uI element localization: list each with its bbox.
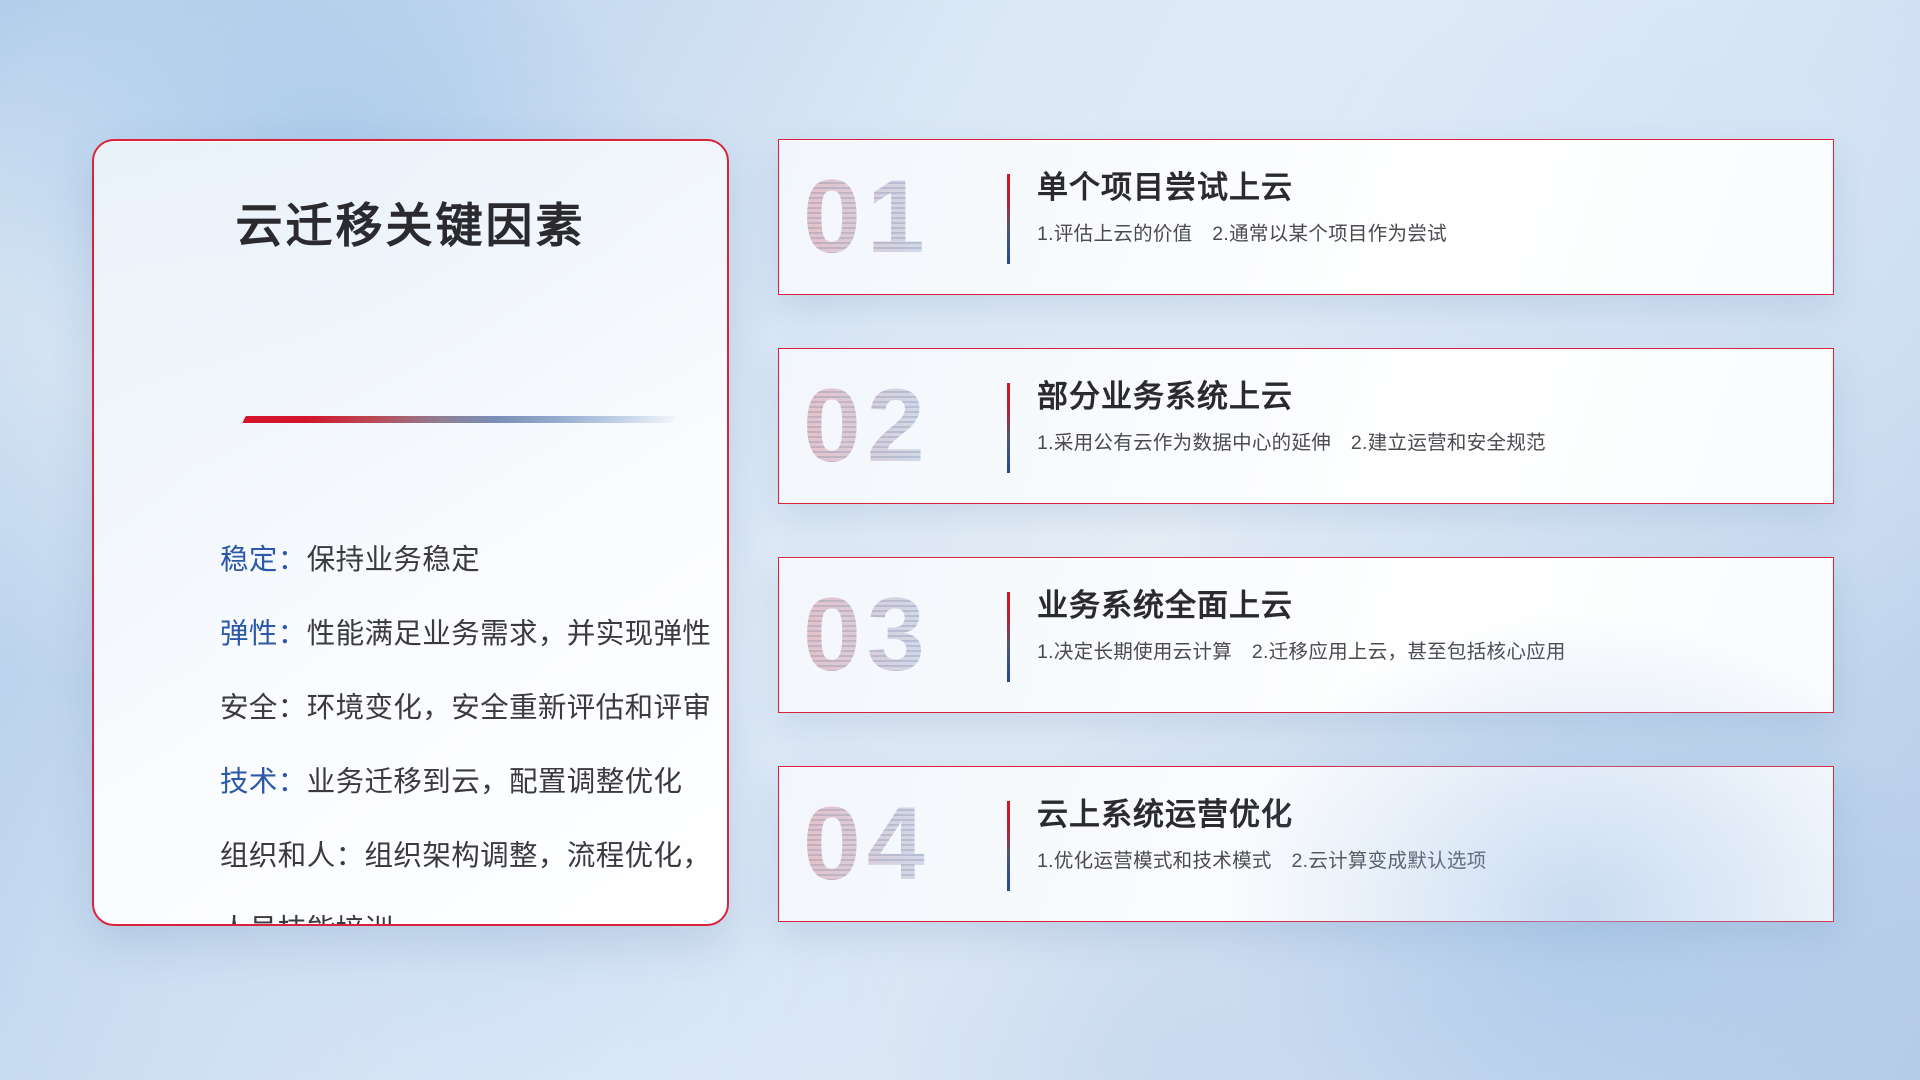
stage-subtitle: 1.优化运营模式和技术模式 2.云计算变成默认选项 bbox=[1037, 846, 1809, 876]
stage-card-body: 部分业务系统上云 1.采用公有云作为数据中心的延伸 2.建立运营和安全规范 bbox=[1037, 375, 1809, 458]
factor-label: 技术： bbox=[220, 766, 307, 798]
factor-label: 组织和人： bbox=[220, 840, 365, 872]
stage-title: 云上系统运营优化 bbox=[1037, 793, 1809, 837]
stage-subtitle: 1.评估上云的价值 2.通常以某个项目作为尝试 bbox=[1037, 219, 1809, 249]
factor-text: 组织架构调整，流程优化， bbox=[365, 840, 712, 872]
page-title: 云迁移关键因素 bbox=[94, 187, 727, 256]
factor-text: 保持业务稳定 bbox=[307, 544, 480, 576]
stage-divider-bar bbox=[1007, 801, 1010, 891]
title-underline-gradient bbox=[242, 416, 675, 423]
stage-card-04[interactable]: 04 云上系统运营优化 1.优化运营模式和技术模式 2.云计算变成默认选项 bbox=[778, 766, 1834, 922]
stage-number: 04 bbox=[803, 792, 931, 896]
stage-divider-bar bbox=[1007, 592, 1010, 682]
stage-card-list: 01 单个项目尝试上云 1.评估上云的价值 2.通常以某个项目作为尝试 02 部… bbox=[778, 139, 1834, 922]
list-item: 稳定：保持业务稳定 bbox=[220, 523, 695, 597]
stage-divider-bar bbox=[1007, 174, 1010, 264]
factor-text: 人员技能培训 bbox=[220, 914, 393, 926]
stage-card-03[interactable]: 03 业务系统全面上云 1.决定长期使用云计算 2.迁移应用上云，甚至包括核心应… bbox=[778, 557, 1834, 713]
list-item: 技术：业务迁移到云，配置调整优化 bbox=[220, 745, 695, 819]
factor-text: 环境变化，安全重新评估和评审 bbox=[307, 692, 712, 724]
stage-card-body: 单个项目尝试上云 1.评估上云的价值 2.通常以某个项目作为尝试 bbox=[1037, 166, 1809, 249]
stage-card-02[interactable]: 02 部分业务系统上云 1.采用公有云作为数据中心的延伸 2.建立运营和安全规范 bbox=[778, 348, 1834, 504]
slide-canvas: 云迁移关键因素 稳定：保持业务稳定 弹性：性能满足业务需求，并实现弹性 安全：环… bbox=[0, 0, 1920, 1080]
factor-label: 安全： bbox=[220, 692, 307, 724]
list-item: 人员技能培训 bbox=[220, 893, 695, 926]
stage-title: 单个项目尝试上云 bbox=[1037, 166, 1809, 210]
stage-card-01[interactable]: 01 单个项目尝试上云 1.评估上云的价值 2.通常以某个项目作为尝试 bbox=[778, 139, 1834, 295]
stage-divider-bar bbox=[1007, 383, 1010, 473]
stage-subtitle: 1.决定长期使用云计算 2.迁移应用上云，甚至包括核心应用 bbox=[1037, 637, 1809, 667]
stage-number: 02 bbox=[803, 374, 931, 478]
factor-list: 稳定：保持业务稳定 弹性：性能满足业务需求，并实现弹性 安全：环境变化，安全重新… bbox=[220, 523, 695, 926]
factor-label: 弹性： bbox=[220, 618, 307, 650]
factor-label: 稳定： bbox=[220, 544, 307, 576]
stage-subtitle: 1.采用公有云作为数据中心的延伸 2.建立运营和安全规范 bbox=[1037, 428, 1809, 458]
factor-text: 业务迁移到云，配置调整优化 bbox=[307, 766, 683, 798]
stage-card-body: 业务系统全面上云 1.决定长期使用云计算 2.迁移应用上云，甚至包括核心应用 bbox=[1037, 584, 1809, 667]
stage-title: 部分业务系统上云 bbox=[1037, 375, 1809, 419]
factor-text: 性能满足业务需求，并实现弹性 bbox=[307, 618, 712, 650]
stage-card-body: 云上系统运营优化 1.优化运营模式和技术模式 2.云计算变成默认选项 bbox=[1037, 793, 1809, 876]
list-item: 弹性：性能满足业务需求，并实现弹性 bbox=[220, 597, 695, 671]
key-factors-panel: 云迁移关键因素 稳定：保持业务稳定 弹性：性能满足业务需求，并实现弹性 安全：环… bbox=[92, 139, 729, 926]
list-item: 安全：环境变化，安全重新评估和评审 bbox=[220, 671, 695, 745]
stage-number: 03 bbox=[803, 583, 931, 687]
list-item: 组织和人：组织架构调整，流程优化， bbox=[220, 819, 695, 893]
stage-number: 01 bbox=[803, 165, 931, 269]
stage-title: 业务系统全面上云 bbox=[1037, 584, 1809, 628]
